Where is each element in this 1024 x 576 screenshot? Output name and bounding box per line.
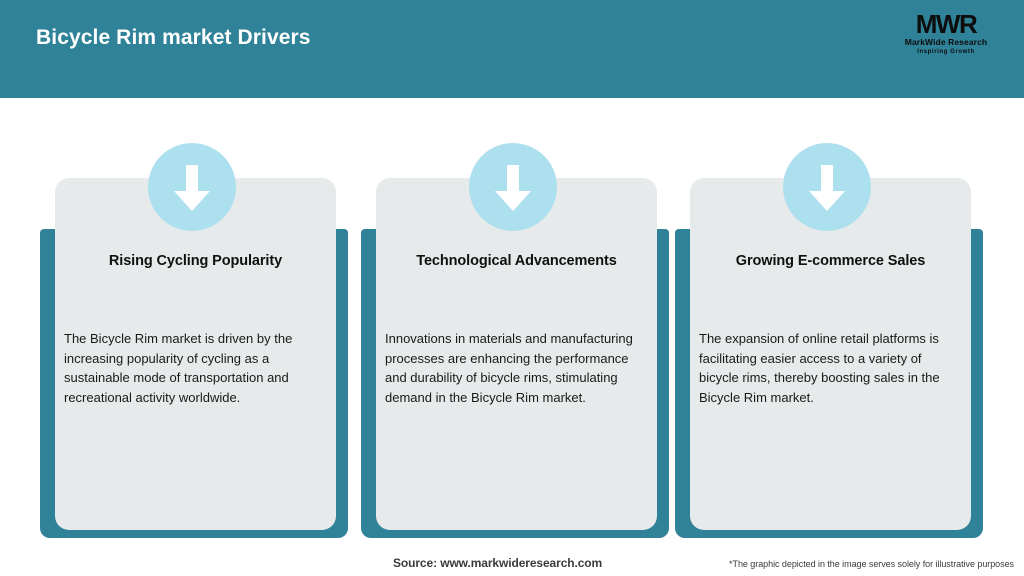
source-note: Source: www.markwideresearch.com — [393, 556, 602, 570]
logo-company-name: MarkWide Research — [890, 37, 1002, 48]
disclaimer-note: *The graphic depicted in the image serve… — [729, 559, 1014, 569]
header-bar: Bicycle Rim market Drivers MWR MarkWide … — [0, 0, 1024, 98]
driver-card[interactable]: Rising Cycling Popularity The Bicycle Ri… — [40, 143, 348, 538]
card-title: Rising Cycling Popularity — [55, 253, 336, 269]
logo-tagline: Inspiring Growth — [890, 48, 1002, 57]
driver-card[interactable]: Technological Advancements Innovations i… — [361, 143, 669, 538]
card-title: Technological Advancements — [376, 253, 657, 269]
card-description: The expansion of online retail platforms… — [699, 329, 963, 407]
card-description: The Bicycle Rim market is driven by the … — [64, 329, 328, 407]
driver-card[interactable]: Growing E-commerce Sales The expansion o… — [675, 143, 983, 538]
brand-logo: MWR MarkWide Research Inspiring Growth — [890, 11, 1002, 61]
card-description: Innovations in materials and manufacturi… — [385, 329, 649, 407]
down-arrow-icon — [148, 143, 236, 231]
logo-monogram: MWR — [890, 11, 1002, 37]
down-arrow-icon — [469, 143, 557, 231]
driver-cards-container: Rising Cycling Popularity The Bicycle Ri… — [0, 98, 1024, 538]
down-arrow-icon — [783, 143, 871, 231]
card-title: Growing E-commerce Sales — [690, 253, 971, 269]
page-title: Bicycle Rim market Drivers — [36, 26, 311, 50]
